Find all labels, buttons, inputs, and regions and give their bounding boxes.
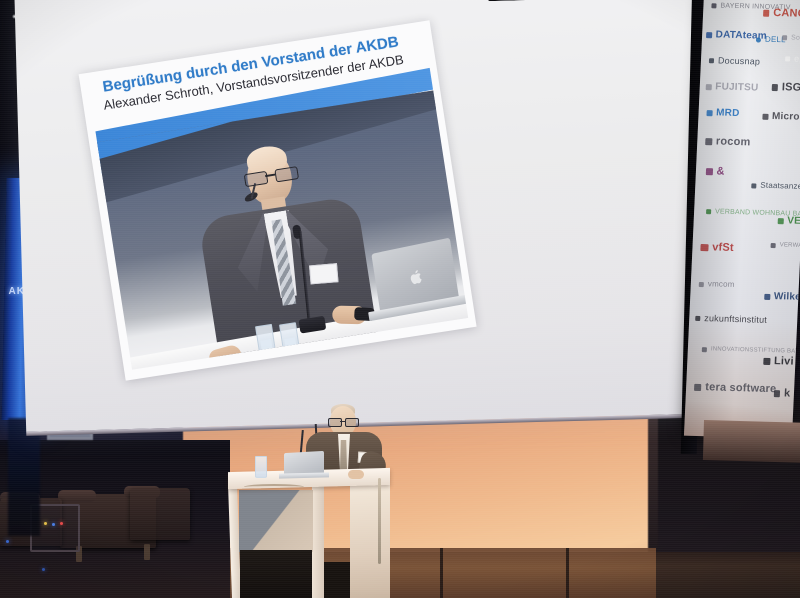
floor-led [6,540,9,543]
sponsor-logo-cancom: CANCOM [763,8,800,21]
microsoft-label: Microsoft [772,112,800,123]
k-logo-label: k [784,388,791,399]
vmcom-icon [699,281,704,286]
desk-cable [244,484,304,490]
screen-top-notch [444,0,525,2]
power-cable [378,478,381,564]
stage-water-glass [255,456,267,478]
sponsor-logo-sonic-wall: SonicWall [782,34,800,42]
sonic-wall-label: SonicWall [791,34,800,42]
rocom-label: rocom [716,136,751,148]
verwaltung-akademie-icon [771,242,776,247]
livi-icon [763,358,770,365]
docusnap-label: Docusnap [718,56,761,66]
k-logo-icon [774,391,780,397]
presentation-slide: Begrüßung durch den Vorstand der AKDB Al… [79,20,477,380]
lectern-shadow [324,562,350,598]
glasses-lens-right [274,166,299,182]
sponsor-logo-staatsanzeiger-eservices: Staatsanzeiger eServices [751,181,800,192]
vfst-label: vfSt [712,242,734,254]
rocom-icon [705,138,712,145]
staatsanzeiger-eservices-icon [751,183,756,188]
stage-panel-seam [566,548,569,598]
conference-stage-photo: AKDB Kom Begrüßung durch den Vorstand de… [0,0,800,598]
zukunftsinstitut-label: zukunftsinstitut [704,314,767,325]
epic-icon [785,56,790,61]
stage-panel-seam [440,548,443,598]
vfst-icon [700,244,708,252]
sponsor-logo-isg: ISG [772,82,800,94]
sponsor-logo-docusnap: Docusnap [709,56,761,66]
sponsor-logo-vfst: vfSt [700,242,734,254]
zukunftsinstitut-icon [695,316,700,321]
sponsor-logo-mrd: MRD [706,108,739,119]
verwaltung-akademie-label: VERWALTUNGS AKADEMIE BAYERN [780,242,800,251]
microsoft-icon [762,114,768,120]
table-led [60,522,63,525]
tera-label: tera software [705,382,777,395]
table-led [44,522,47,525]
cancom-label: CANCOM [773,8,800,20]
laptop-keyboard-base [279,472,329,478]
armchair-leg [144,544,150,560]
stage-speaker-glasses-icon [328,418,357,425]
fujitsu-label: FUJITSU [715,82,759,93]
sponsor-logo-zukunftsinstitut: zukunftsinstitut [695,314,767,325]
sponsor-logo-fujitsu: FUJITSU [706,82,759,93]
livi-label: Livi [774,356,794,368]
bayern-innovativ-icon [711,3,716,8]
sponsor-logo-ve-logo: VE [778,216,800,227]
stage-speaker-hand [348,470,364,479]
sponsor-logo-livi: Livi [763,356,794,368]
innovationsstiftung-icon [702,347,707,352]
tera-icon [694,384,701,391]
wilken-label: Wilken [774,292,800,303]
sponsor-logo-rocom: rocom [705,136,751,148]
glasses-lens-right [345,418,359,427]
vmcom-label: vmcom [708,280,735,289]
sponsor-logo-vmcom: vmcom [699,280,735,289]
dell-icon [756,37,761,42]
verband-wohnbau-icon [706,209,711,214]
armchair-armrest [58,490,96,502]
wilken-icon [764,294,770,300]
sponsor-logo-wilken: Wilken [764,292,800,303]
pillar-base [8,418,40,536]
sponsor-logo-tera: tera software [694,382,777,395]
armchair [130,488,190,540]
isg-icon [772,84,778,90]
floor-led [42,568,45,571]
staatsanzeiger-eservices-label: Staatsanzeiger eServices [760,182,800,193]
datateam-icon [706,32,712,38]
bayerische-kommune-mark-label: & [716,166,725,177]
epic-label: epic [794,55,800,64]
sponsor-logo-bayerische-kommune-mark: & [706,166,725,178]
macbook-laptop [371,239,467,321]
lectern-right-panel [350,484,390,598]
sponsor-logo-microsoft: Microsoft [762,112,800,124]
table-led [52,523,55,526]
fujitsu-icon [706,84,712,90]
lectern-center-post [312,484,324,598]
sponsor-banner: BAYERN INNOVATIVCANCOMDATAteamDELLSonicW… [684,0,800,439]
glasses-lens-left [328,418,342,427]
lectern [228,470,390,598]
cancom-icon [763,10,769,16]
projection-screen: Kom Begrüßung durch den Vorstand der AKD… [14,0,726,432]
lectern-shadow [240,550,312,598]
banner-base [703,420,800,463]
sonic-wall-icon [782,35,787,40]
sponsor-logo-epic: epic [785,54,800,64]
ve-logo-label: VE [787,216,800,226]
name-badge [309,263,338,284]
bayerische-kommune-mark-icon [706,168,713,175]
sponsor-logo-k-logo: k [774,388,791,399]
stage-macbook-laptop [284,452,328,478]
ve-logo-icon [778,218,784,224]
mrd-icon [706,110,712,116]
isg-label: ISG [782,82,800,94]
glasses-bridge [265,174,275,177]
lectern-front-panel [239,490,313,552]
sponsor-logo-verwaltung-akademie: VERWALTUNGS AKADEMIE BAYERN [771,242,800,251]
docusnap-icon [709,58,714,63]
apple-logo-icon [408,268,424,287]
mrd-label: MRD [716,108,740,119]
